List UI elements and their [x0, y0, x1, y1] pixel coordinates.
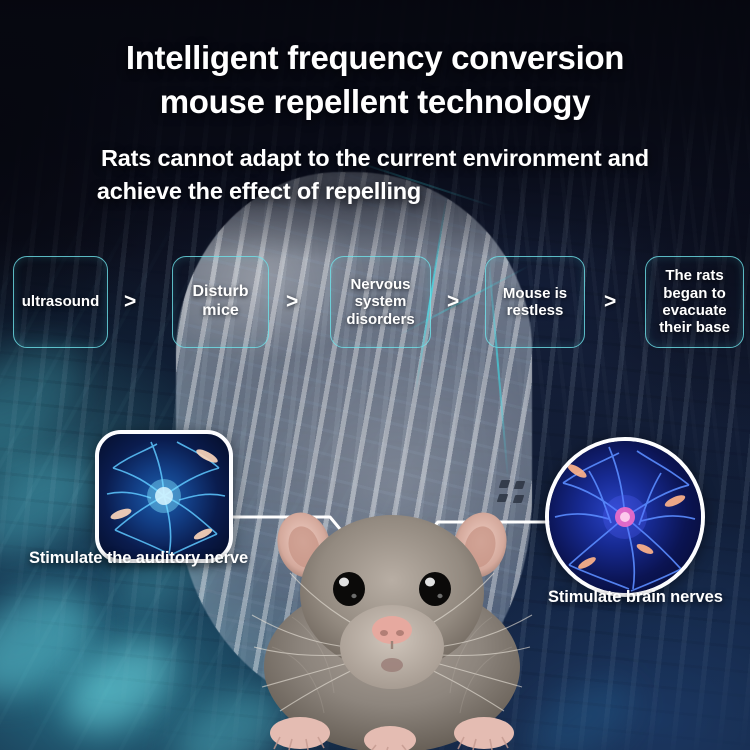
- flow-step-label: Mouse is restless: [498, 285, 572, 320]
- title-line-1: Intelligent frequency conversion: [0, 36, 750, 80]
- flow-step-label: The rats began to evacuate their base: [654, 267, 735, 337]
- caption-left: Stimulate the auditory nerve: [29, 549, 248, 568]
- flow-step-label: ultrasound: [17, 293, 105, 310]
- flow-step-label: Disturb mice: [188, 283, 254, 320]
- flow-step-mouse-is-restless[interactable]: Mouse is restless: [485, 256, 585, 348]
- flow-step-label: Nervous system disorders: [341, 276, 419, 328]
- caption-right: Stimulate brain nerves: [548, 588, 723, 607]
- page-subtitle: Rats cannot adapt to the current environ…: [0, 142, 750, 208]
- flow-arrow-icon: >: [124, 290, 136, 314]
- auditory-nerve-image[interactable]: [95, 430, 233, 563]
- flow-arrow-icon: >: [447, 290, 459, 314]
- flow-step-evacuate-base[interactable]: The rats began to evacuate their base: [645, 256, 744, 348]
- title-line-2: mouse repellent technology: [0, 80, 750, 124]
- flow-step-ultrasound[interactable]: ultrasound: [13, 256, 108, 348]
- subtitle-line-1: Rats cannot adapt to the current environ…: [0, 142, 750, 175]
- process-flow: ultrasound > Disturb mice > Nervous syst…: [0, 256, 750, 350]
- subtitle-line-2: achieve the effect of repelling: [0, 175, 750, 208]
- flow-step-disturb-mice[interactable]: Disturb mice: [172, 256, 269, 348]
- flow-step-nervous-system-disorders[interactable]: Nervous system disorders: [330, 256, 431, 348]
- flow-arrow-icon: >: [286, 290, 298, 314]
- flow-arrow-icon: >: [604, 290, 616, 314]
- promo-banner: Intelligent frequency conversion mouse r…: [0, 0, 750, 750]
- page-title: Intelligent frequency conversion mouse r…: [0, 36, 750, 123]
- brain-nerve-image[interactable]: [545, 437, 705, 597]
- rat-photo: [232, 497, 552, 750]
